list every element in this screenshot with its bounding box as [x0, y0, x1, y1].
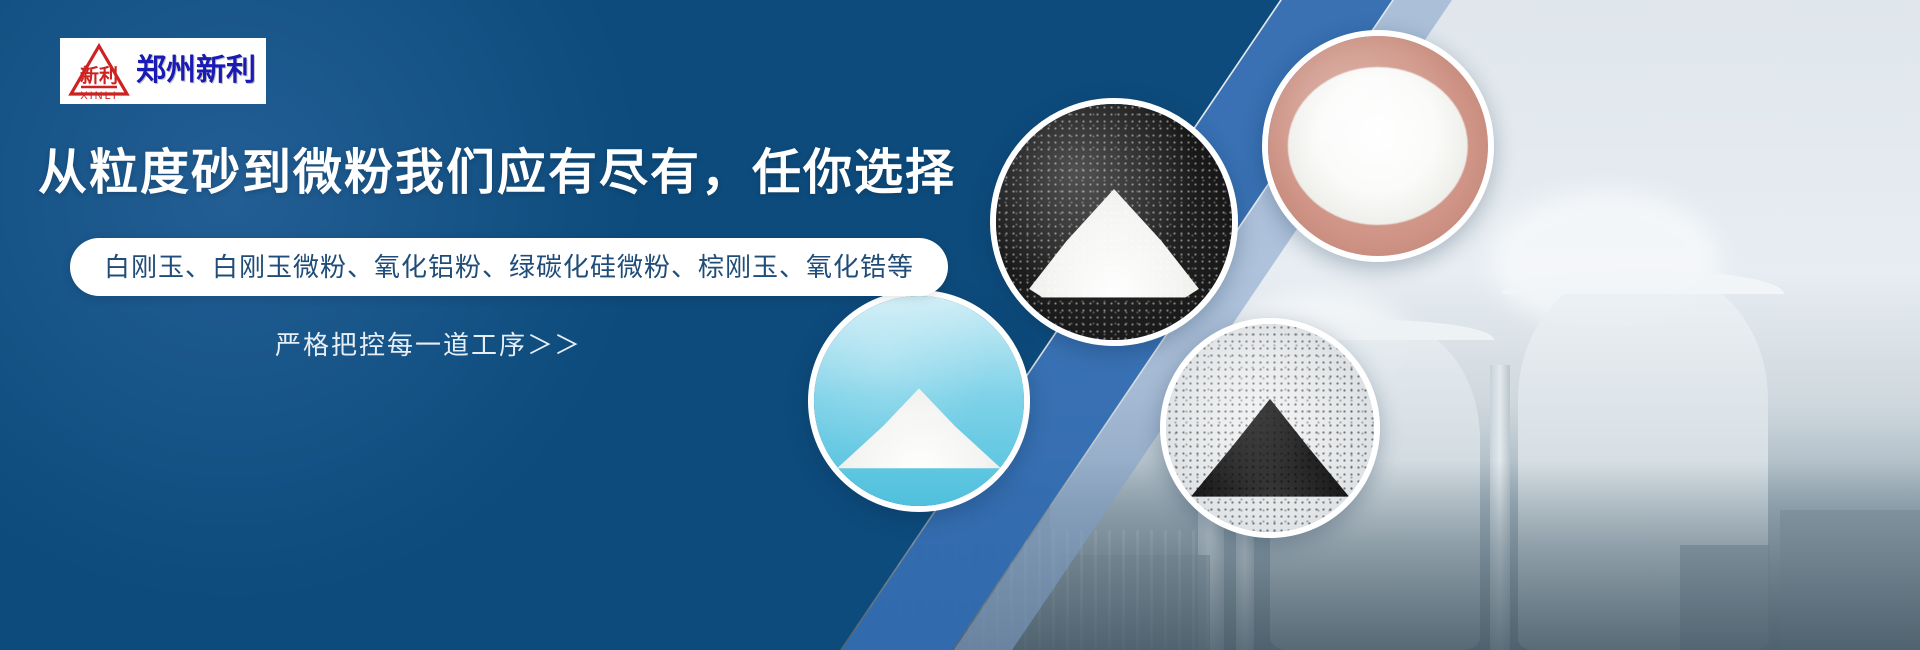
product-photo-alumina-powder-cone[interactable] — [808, 290, 1030, 512]
page-title: 从粒度砂到微粉我们应有尽有，任你选择 — [38, 146, 956, 201]
product-list-text: 白刚玉、白刚玉微粉、氧化铝粉、绿碳化硅微粉、棕刚玉、氧化锆等 — [104, 254, 914, 280]
chevron-right-icon: ＞＞ — [527, 330, 581, 360]
photo-sheen — [1166, 324, 1374, 532]
photo-sheen — [1268, 36, 1488, 256]
product-photo-white-abrasive-grains[interactable] — [990, 98, 1238, 346]
company-logo[interactable]: 新利 XINLI 郑州新利 — [60, 38, 266, 104]
product-photo-silicon-carbide-grains[interactable] — [1160, 318, 1380, 538]
cta-label: 严格把控每一道工序 — [275, 330, 527, 360]
company-name-text: 郑州新利 — [136, 56, 256, 86]
photo-sheen — [996, 104, 1232, 340]
promo-banner: 新利 XINLI 郑州新利 从粒度砂到微粉我们应有尽有，任你选择 白刚玉、白刚玉… — [0, 0, 1920, 650]
svg-text:新利: 新利 — [80, 64, 118, 87]
photo-sheen — [814, 296, 1024, 506]
cta-link[interactable]: 严格把控每一道工序＞＞ — [275, 325, 581, 362]
xinli-triangle-icon: 新利 XINLI — [68, 42, 130, 100]
product-photo-white-micro-powder[interactable] — [1262, 30, 1494, 262]
product-list-pill: 白刚玉、白刚玉微粉、氧化铝粉、绿碳化硅微粉、棕刚玉、氧化锆等 — [70, 238, 948, 296]
svg-text:XINLI: XINLI — [80, 90, 118, 100]
